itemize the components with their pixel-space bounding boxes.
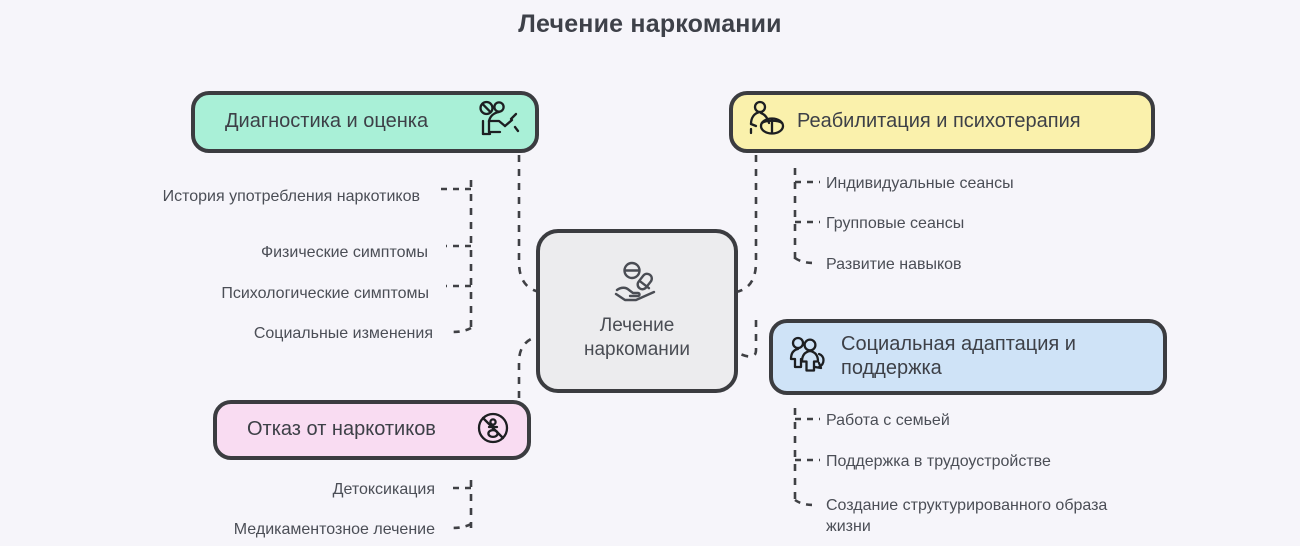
leaf-social-3[interactable]: Создание структурированного образа жизни [826,496,1136,538]
leaf-diagnostics-2[interactable]: Физические симптомы [120,243,428,264]
branch-node-diagnostics[interactable]: Диагностика и оценка [191,91,539,153]
people-support-icon [787,334,831,381]
center-node[interactable]: Лечение наркомании [536,229,738,393]
leaf-social-2[interactable]: Поддержка в трудоустройстве [826,452,1051,473]
branch-label-refusal: Отказ от наркотиков [247,418,436,442]
page-title: Лечение наркомании [0,10,1300,39]
branch-label-diagnostics: Диагностика и оценка [225,110,428,134]
leaf-diagnostics-4[interactable]: Социальные изменения [120,324,433,345]
wire-social-to-center [736,320,756,357]
seated-person-no-drugs-icon [477,100,521,145]
leaf-refusal-1[interactable]: Детоксикация [140,480,435,501]
leaf-diagnostics-1[interactable]: История употребления наркотиков [120,187,420,208]
center-node-label: Лечение наркомании [584,314,690,362]
wire-elbow-p3 [795,258,814,263]
leaf-rehab-3[interactable]: Развитие навыков [826,255,962,276]
leaf-diagnostics-3[interactable]: Психологические симптомы [120,284,429,305]
social-label-line2: поддержка [841,357,1076,381]
no-drugs-icon [475,409,513,452]
leaf-rehab-1[interactable]: Индивидуальные сеансы [826,174,1014,195]
mindmap-canvas: Лечение наркомании [0,0,1300,546]
person-supporting-icon [745,99,787,146]
leaf-refusal-2[interactable]: Медикаментозное лечение [140,520,435,541]
branch-node-refusal[interactable]: Отказ от наркотиков [213,400,531,460]
leaf-rehab-2[interactable]: Групповые сеансы [826,214,964,235]
wire-rehab-to-center [736,155,756,292]
social-label-line1: Социальная адаптация и [841,333,1076,357]
center-label-line2: наркомании [584,338,690,362]
branch-label-social: Социальная адаптация и поддержка [841,333,1076,380]
branch-label-rehab: Реабилитация и психотерапия [797,110,1081,134]
leaf-social-1[interactable]: Работа с семьей [826,411,950,432]
center-label-line1: Лечение [584,314,690,338]
hand-holding-pills-icon [609,261,665,310]
wire-elbow-r2 [452,524,471,528]
wire-elbow-d4 [452,328,471,332]
wire-elbow-s3 [795,500,814,505]
branch-node-social[interactable]: Социальная адаптация и поддержка [769,319,1167,395]
branch-node-rehab[interactable]: Реабилитация и психотерапия [729,91,1155,153]
